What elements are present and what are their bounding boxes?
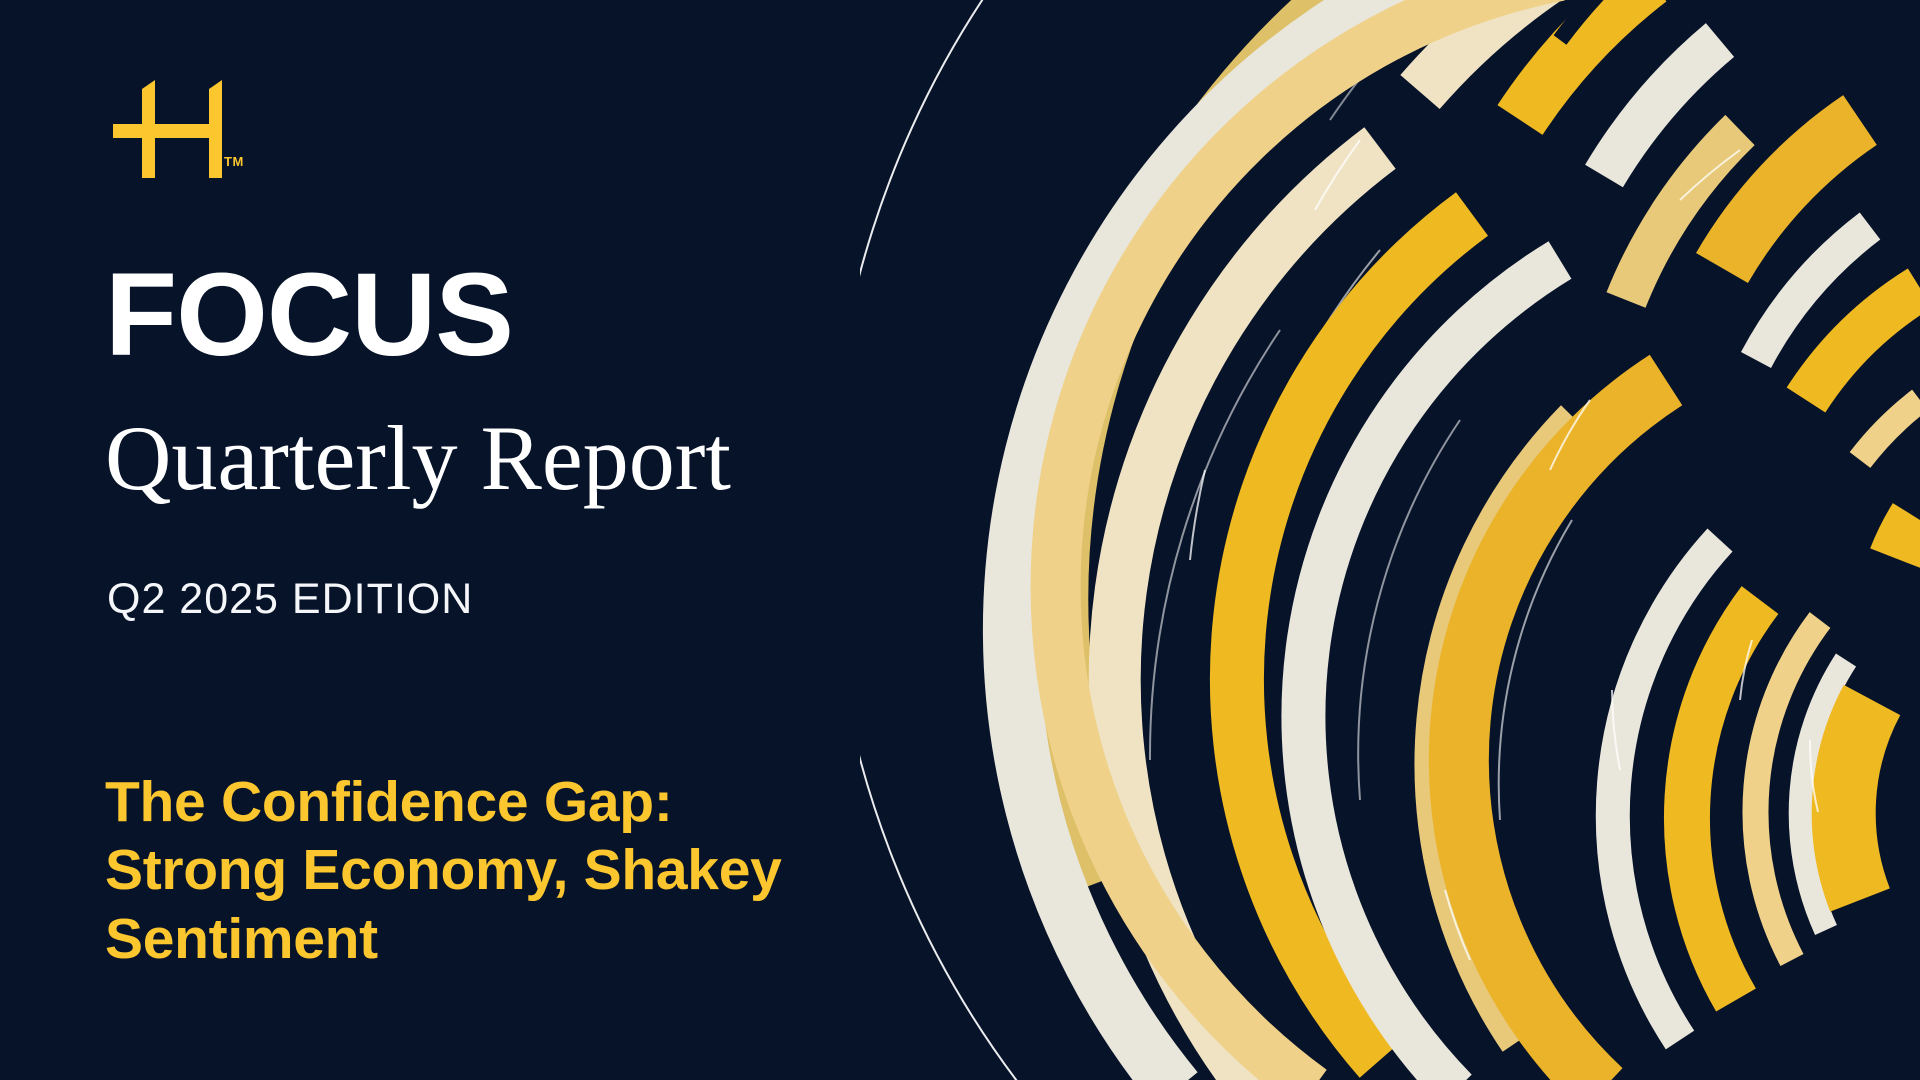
edition-label: Q2 2025 EDITION — [107, 578, 473, 621]
report-subtitle: Quarterly Report — [105, 412, 731, 504]
arc-rings-svg — [860, 0, 1920, 1080]
feature-headline: The Confidence Gap: Strong Economy, Shak… — [105, 768, 945, 973]
report-cover-slide: TM FOCUS Quarterly Report Q2 2025 EDITIO… — [0, 0, 1920, 1080]
brand-logo[interactable]: TM — [105, 72, 245, 182]
trademark-mark: TM — [224, 154, 244, 169]
headline-line-3: Sentiment — [105, 905, 945, 973]
cover-content-column: TM FOCUS Quarterly Report Q2 2025 EDITIO… — [105, 0, 1005, 1080]
concentric-arc-rings-graphic — [860, 0, 1920, 1080]
page-title: FOCUS — [105, 256, 513, 374]
headline-line-2: Strong Economy, Shakey — [105, 836, 945, 904]
headline-line-1: The Confidence Gap: — [105, 768, 945, 836]
